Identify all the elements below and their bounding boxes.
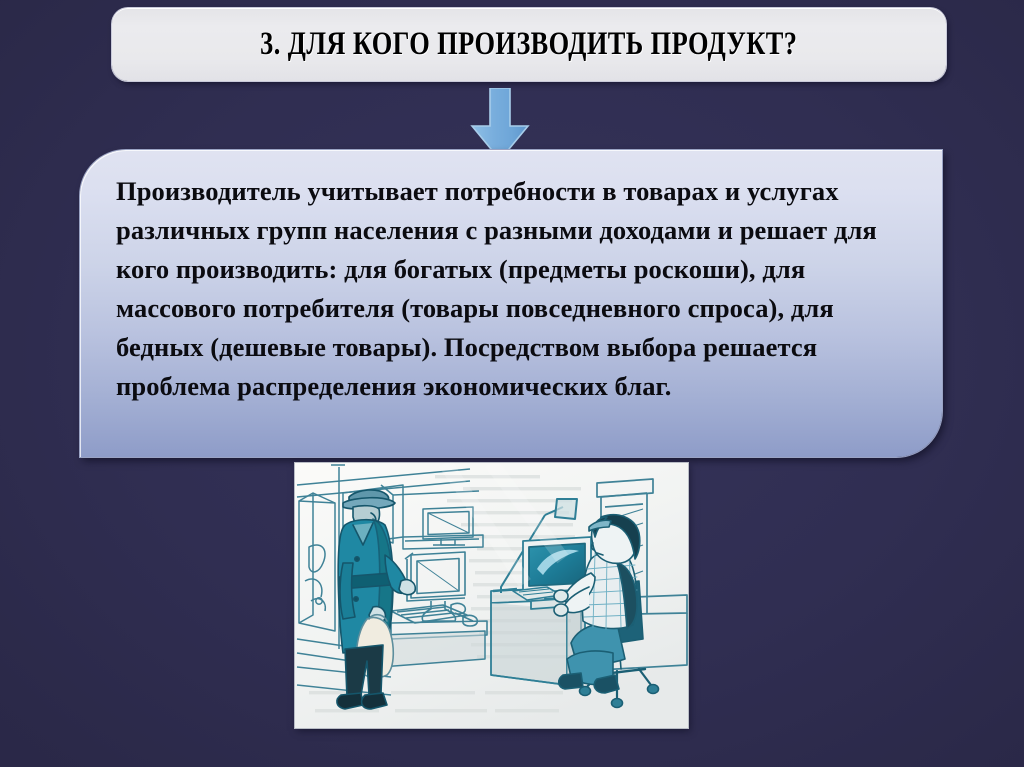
slide-title-plate: 3. ДЛЯ КОГО ПРОИЗВОДИТЬ ПРОДУКТ? — [112, 8, 946, 81]
computer-store-illustration — [295, 463, 688, 728]
slide-body-plate: Производитель учитывает потребности в то… — [80, 150, 942, 457]
page-title: 3. ДЛЯ КОГО ПРОИЗВОДИТЬ ПРОДУКТ? — [260, 26, 797, 63]
body-paragraph: Производитель учитывает потребности в то… — [116, 172, 914, 406]
slide-canvas: 3. ДЛЯ КОГО ПРОИЗВОДИТЬ ПРОДУКТ? Произво… — [0, 0, 1024, 767]
